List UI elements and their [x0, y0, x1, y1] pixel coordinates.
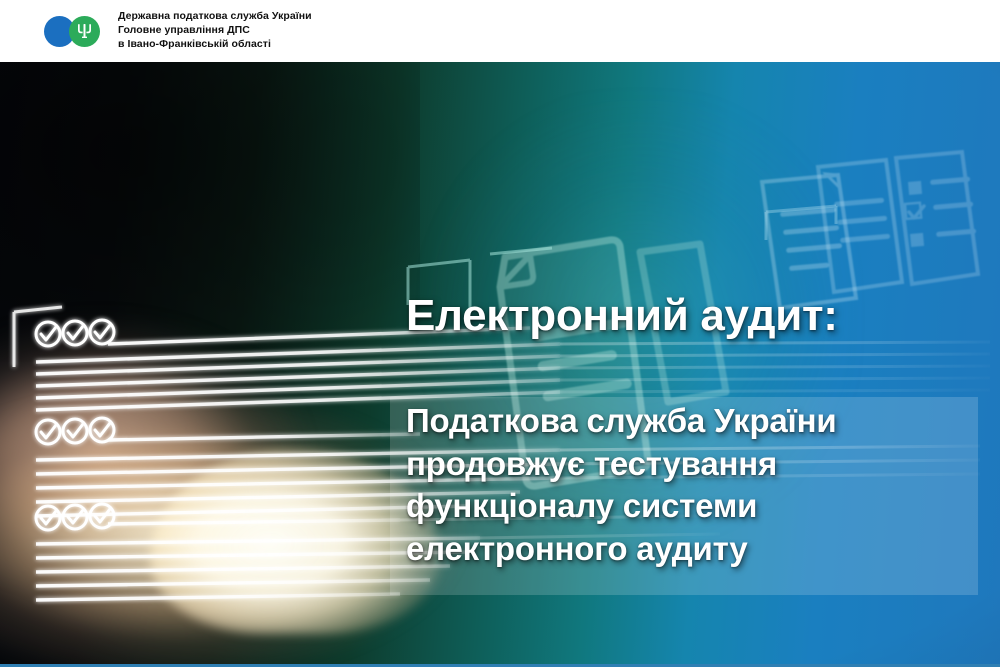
org-line-3: в Івано-Франківській області — [118, 38, 312, 52]
check-circle-icon — [63, 419, 87, 443]
check-circle-icon — [90, 320, 114, 344]
check-group-2 — [36, 418, 114, 444]
check-circle-icon — [36, 506, 60, 530]
tryzub-icon — [76, 22, 93, 41]
check-circle-icon — [63, 505, 87, 529]
hero-body-text: Податкова служба України продовжує тесту… — [406, 400, 986, 570]
logo-green-circle-icon — [69, 16, 100, 47]
org-line-2: Головне управління ДПС — [118, 24, 312, 38]
news-banner: Державна податкова служба України Головн… — [0, 0, 1000, 667]
checklist-document-icon — [896, 152, 978, 284]
org-line-1: Державна податкова служба України — [118, 10, 312, 24]
hero-headline: Електронний аудит: — [406, 293, 996, 339]
check-circle-icon — [63, 321, 87, 345]
check-circle-icon — [36, 322, 60, 346]
dps-logo — [44, 14, 106, 48]
hero-image: Електронний аудит: Податкова служба Укра… — [0, 62, 1000, 664]
site-header: Державна податкова служба України Головн… — [0, 0, 1000, 62]
check-group-1 — [36, 320, 114, 346]
check-circle-icon — [36, 420, 60, 444]
corner-bracket-icon-left — [14, 307, 62, 367]
organization-name: Державна податкова служба України Головн… — [118, 10, 312, 52]
